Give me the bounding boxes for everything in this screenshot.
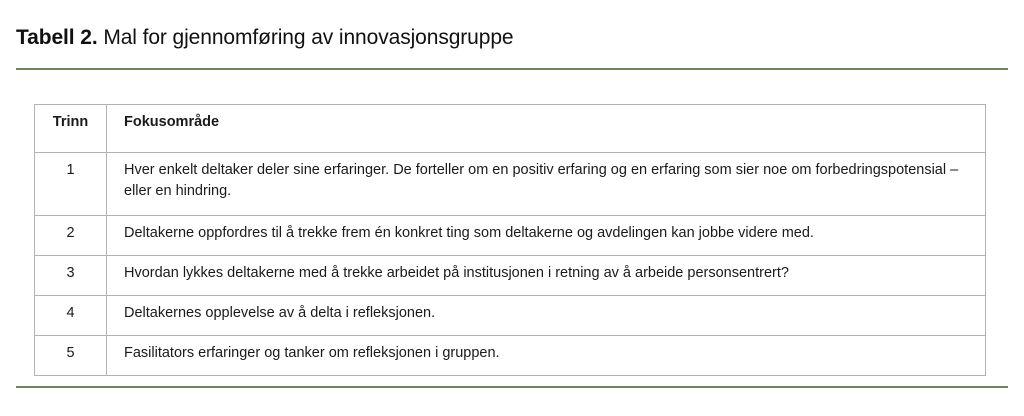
table-row: 1 Hver enkelt deltaker deler sine erfari…: [35, 153, 986, 216]
column-header-fokusomrade: Fokusområde: [107, 105, 986, 153]
cell-fokusomrade: Fasilitators erfaringer og tanker om ref…: [107, 336, 986, 376]
cell-trinn: 2: [35, 216, 107, 256]
table-header-row: Trinn Fokusområde: [35, 105, 986, 153]
cell-fokusomrade: Deltakerne oppfordres til å trekke frem …: [107, 216, 986, 256]
cell-trinn: 1: [35, 153, 107, 216]
table-container: Trinn Fokusområde 1 Hver enkelt deltaker…: [34, 104, 985, 376]
cell-trinn: 3: [35, 256, 107, 296]
table-body: 1 Hver enkelt deltaker deler sine erfari…: [35, 153, 986, 376]
document-page: Tabell 2. Mal for gjennomføring av innov…: [0, 0, 1024, 416]
cell-fokusomrade: Hver enkelt deltaker deler sine erfaring…: [107, 153, 986, 216]
table-row: 2 Deltakerne oppfordres til å trekke fre…: [35, 216, 986, 256]
table-row: 4 Deltakernes opplevelse av å delta i re…: [35, 296, 986, 336]
table-divider-rule-bottom: [16, 386, 1008, 388]
table-row: 5 Fasilitators erfaringer og tanker om r…: [35, 336, 986, 376]
innovation-group-table: Trinn Fokusområde 1 Hver enkelt deltaker…: [34, 104, 986, 376]
column-header-trinn: Trinn: [35, 105, 107, 153]
table-header: Trinn Fokusområde: [35, 105, 986, 153]
table-caption-text: Mal for gjennomføring av innovasjonsgrup…: [98, 26, 514, 49]
cell-fokusomrade: Deltakernes opplevelse av å delta i refl…: [107, 296, 986, 336]
table-row: 3 Hvordan lykkes deltakerne med å trekke…: [35, 256, 986, 296]
cell-fokusomrade: Hvordan lykkes deltakerne med å trekke a…: [107, 256, 986, 296]
table-caption-label: Tabell 2.: [16, 26, 98, 49]
caption-divider-rule-top: [16, 68, 1008, 70]
cell-trinn: 5: [35, 336, 107, 376]
cell-trinn: 4: [35, 296, 107, 336]
table-caption: Tabell 2. Mal for gjennomføring av innov…: [16, 24, 514, 52]
